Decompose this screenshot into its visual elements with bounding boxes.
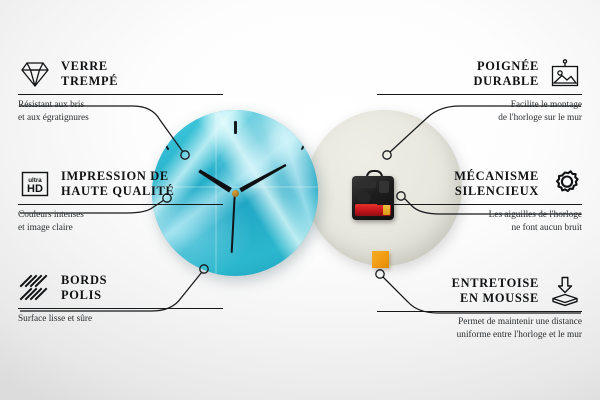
ultra-hd-icon-bottom-label: HD	[27, 183, 43, 195]
feature-verre-title: VERRE TREMPÉ	[61, 59, 118, 88]
clock-tick	[234, 121, 237, 134]
feature-verre-desc-line1: Résistant aux bris	[18, 99, 223, 111]
feature-mecanisme-divider	[377, 204, 582, 205]
feature-mecanisme-title-line2: SILENCIEUX	[454, 184, 539, 199]
feature-impression-header: ultra HD IMPRESSION DE HAUTE QUALITÉ	[18, 168, 223, 200]
feature-impression-haute-qualite: ultra HD IMPRESSION DE HAUTE QUALITÉ Cou…	[18, 168, 223, 234]
feature-impression-title-line1: IMPRESSION DE	[61, 169, 174, 184]
feature-impression-description: Couleurs intenses et image claire	[18, 209, 223, 234]
feature-impression-desc-line2: et image claire	[18, 222, 223, 234]
feature-impression-title-line2: HAUTE QUALITÉ	[61, 184, 174, 199]
feature-bords-header: BORDS POLIS	[18, 272, 223, 304]
feature-poignee-description: Facilite le montage de l'horloge sur le …	[377, 99, 582, 124]
feature-entretoise-desc-line2: uniforme entre l'horloge et le mur	[377, 329, 582, 341]
feature-mecanisme-description: Les aiguilles de l'horloge ne font aucun…	[377, 209, 582, 234]
feature-bords-title: BORDS POLIS	[61, 273, 107, 302]
feature-poignee-durable: POIGNÉE DURABLE Facilite le montage de l…	[377, 58, 582, 124]
polished-edges-icon	[18, 272, 52, 304]
ultra-hd-icon: ultra HD	[18, 168, 52, 200]
feature-mecanisme-title-line1: MÉCANISME	[454, 169, 539, 184]
feature-mecanisme-desc-line2: ne font aucun bruit	[377, 222, 582, 234]
feature-mecanisme-header: MÉCANISME SILENCIEUX	[377, 168, 582, 200]
feature-entretoise-desc-line1: Permet de maintenir une distance	[377, 316, 582, 328]
feature-mecanisme-desc-line1: Les aiguilles de l'horloge	[377, 209, 582, 221]
gear-icon	[548, 168, 582, 200]
feature-entretoise-title-line1: ENTRETOISE	[452, 276, 539, 291]
feature-entretoise-title: ENTRETOISE EN MOUSSE	[452, 276, 539, 305]
feature-poignee-header: POIGNÉE DURABLE	[377, 58, 582, 90]
feature-bords-polis: BORDS POLIS Surface lisse et sûre	[18, 272, 223, 326]
feature-poignee-desc-line2: de l'horloge sur le mur	[377, 112, 582, 124]
feature-verre-title-line2: TREMPÉ	[61, 74, 118, 89]
wall-hanger-icon	[548, 58, 582, 90]
mechanism-detail-dial	[357, 192, 371, 203]
feature-poignee-divider	[377, 94, 582, 95]
feature-impression-desc-line1: Couleurs intenses	[18, 209, 223, 221]
diamond-icon	[18, 58, 52, 90]
feature-impression-title: IMPRESSION DE HAUTE QUALITÉ	[61, 169, 174, 198]
feature-bords-title-line1: BORDS	[61, 273, 107, 288]
feature-poignee-title: POIGNÉE DURABLE	[474, 59, 540, 88]
feature-verre-divider	[18, 94, 223, 95]
feature-bords-divider	[18, 308, 223, 309]
feature-entretoise-title-line2: EN MOUSSE	[452, 291, 539, 306]
feature-poignee-title-line2: DURABLE	[474, 74, 540, 89]
feature-entretoise-en-mousse: ENTRETOISE EN MOUSSE Permet de maintenir…	[377, 275, 582, 341]
feature-verre-title-line1: VERRE	[61, 59, 118, 74]
feature-mecanisme-title: MÉCANISME SILENCIEUX	[454, 169, 539, 198]
mechanism-detail-top	[356, 181, 376, 188]
infographic-canvas: VERRE TREMPÉ Résistant aux bris et aux é…	[0, 0, 600, 400]
feature-poignee-title-line1: POIGNÉE	[474, 59, 540, 74]
feature-verre-desc-line2: et aux égratignures	[18, 112, 223, 124]
feature-impression-divider	[18, 204, 223, 205]
foam-spacer-pad	[372, 251, 389, 268]
feature-verre-trempe: VERRE TREMPÉ Résistant aux bris et aux é…	[18, 58, 223, 124]
feature-bords-description: Surface lisse et sûre	[18, 313, 223, 325]
foam-spacer-icon	[548, 275, 582, 307]
feature-bords-title-line2: POLIS	[61, 288, 107, 303]
feature-poignee-desc-line1: Facilite le montage	[377, 99, 582, 111]
feature-entretoise-divider	[377, 311, 582, 312]
feature-mecanisme-silencieux: MÉCANISME SILENCIEUX Les aiguilles de l'…	[377, 168, 582, 234]
feature-entretoise-description: Permet de maintenir une distance uniform…	[377, 316, 582, 341]
feature-verre-header: VERRE TREMPÉ	[18, 58, 223, 90]
hands-center-cap	[232, 190, 239, 197]
feature-entretoise-header: ENTRETOISE EN MOUSSE	[377, 275, 582, 307]
feature-bords-desc-line1: Surface lisse et sûre	[18, 313, 223, 325]
feature-verre-description: Résistant aux bris et aux égratignures	[18, 99, 223, 124]
